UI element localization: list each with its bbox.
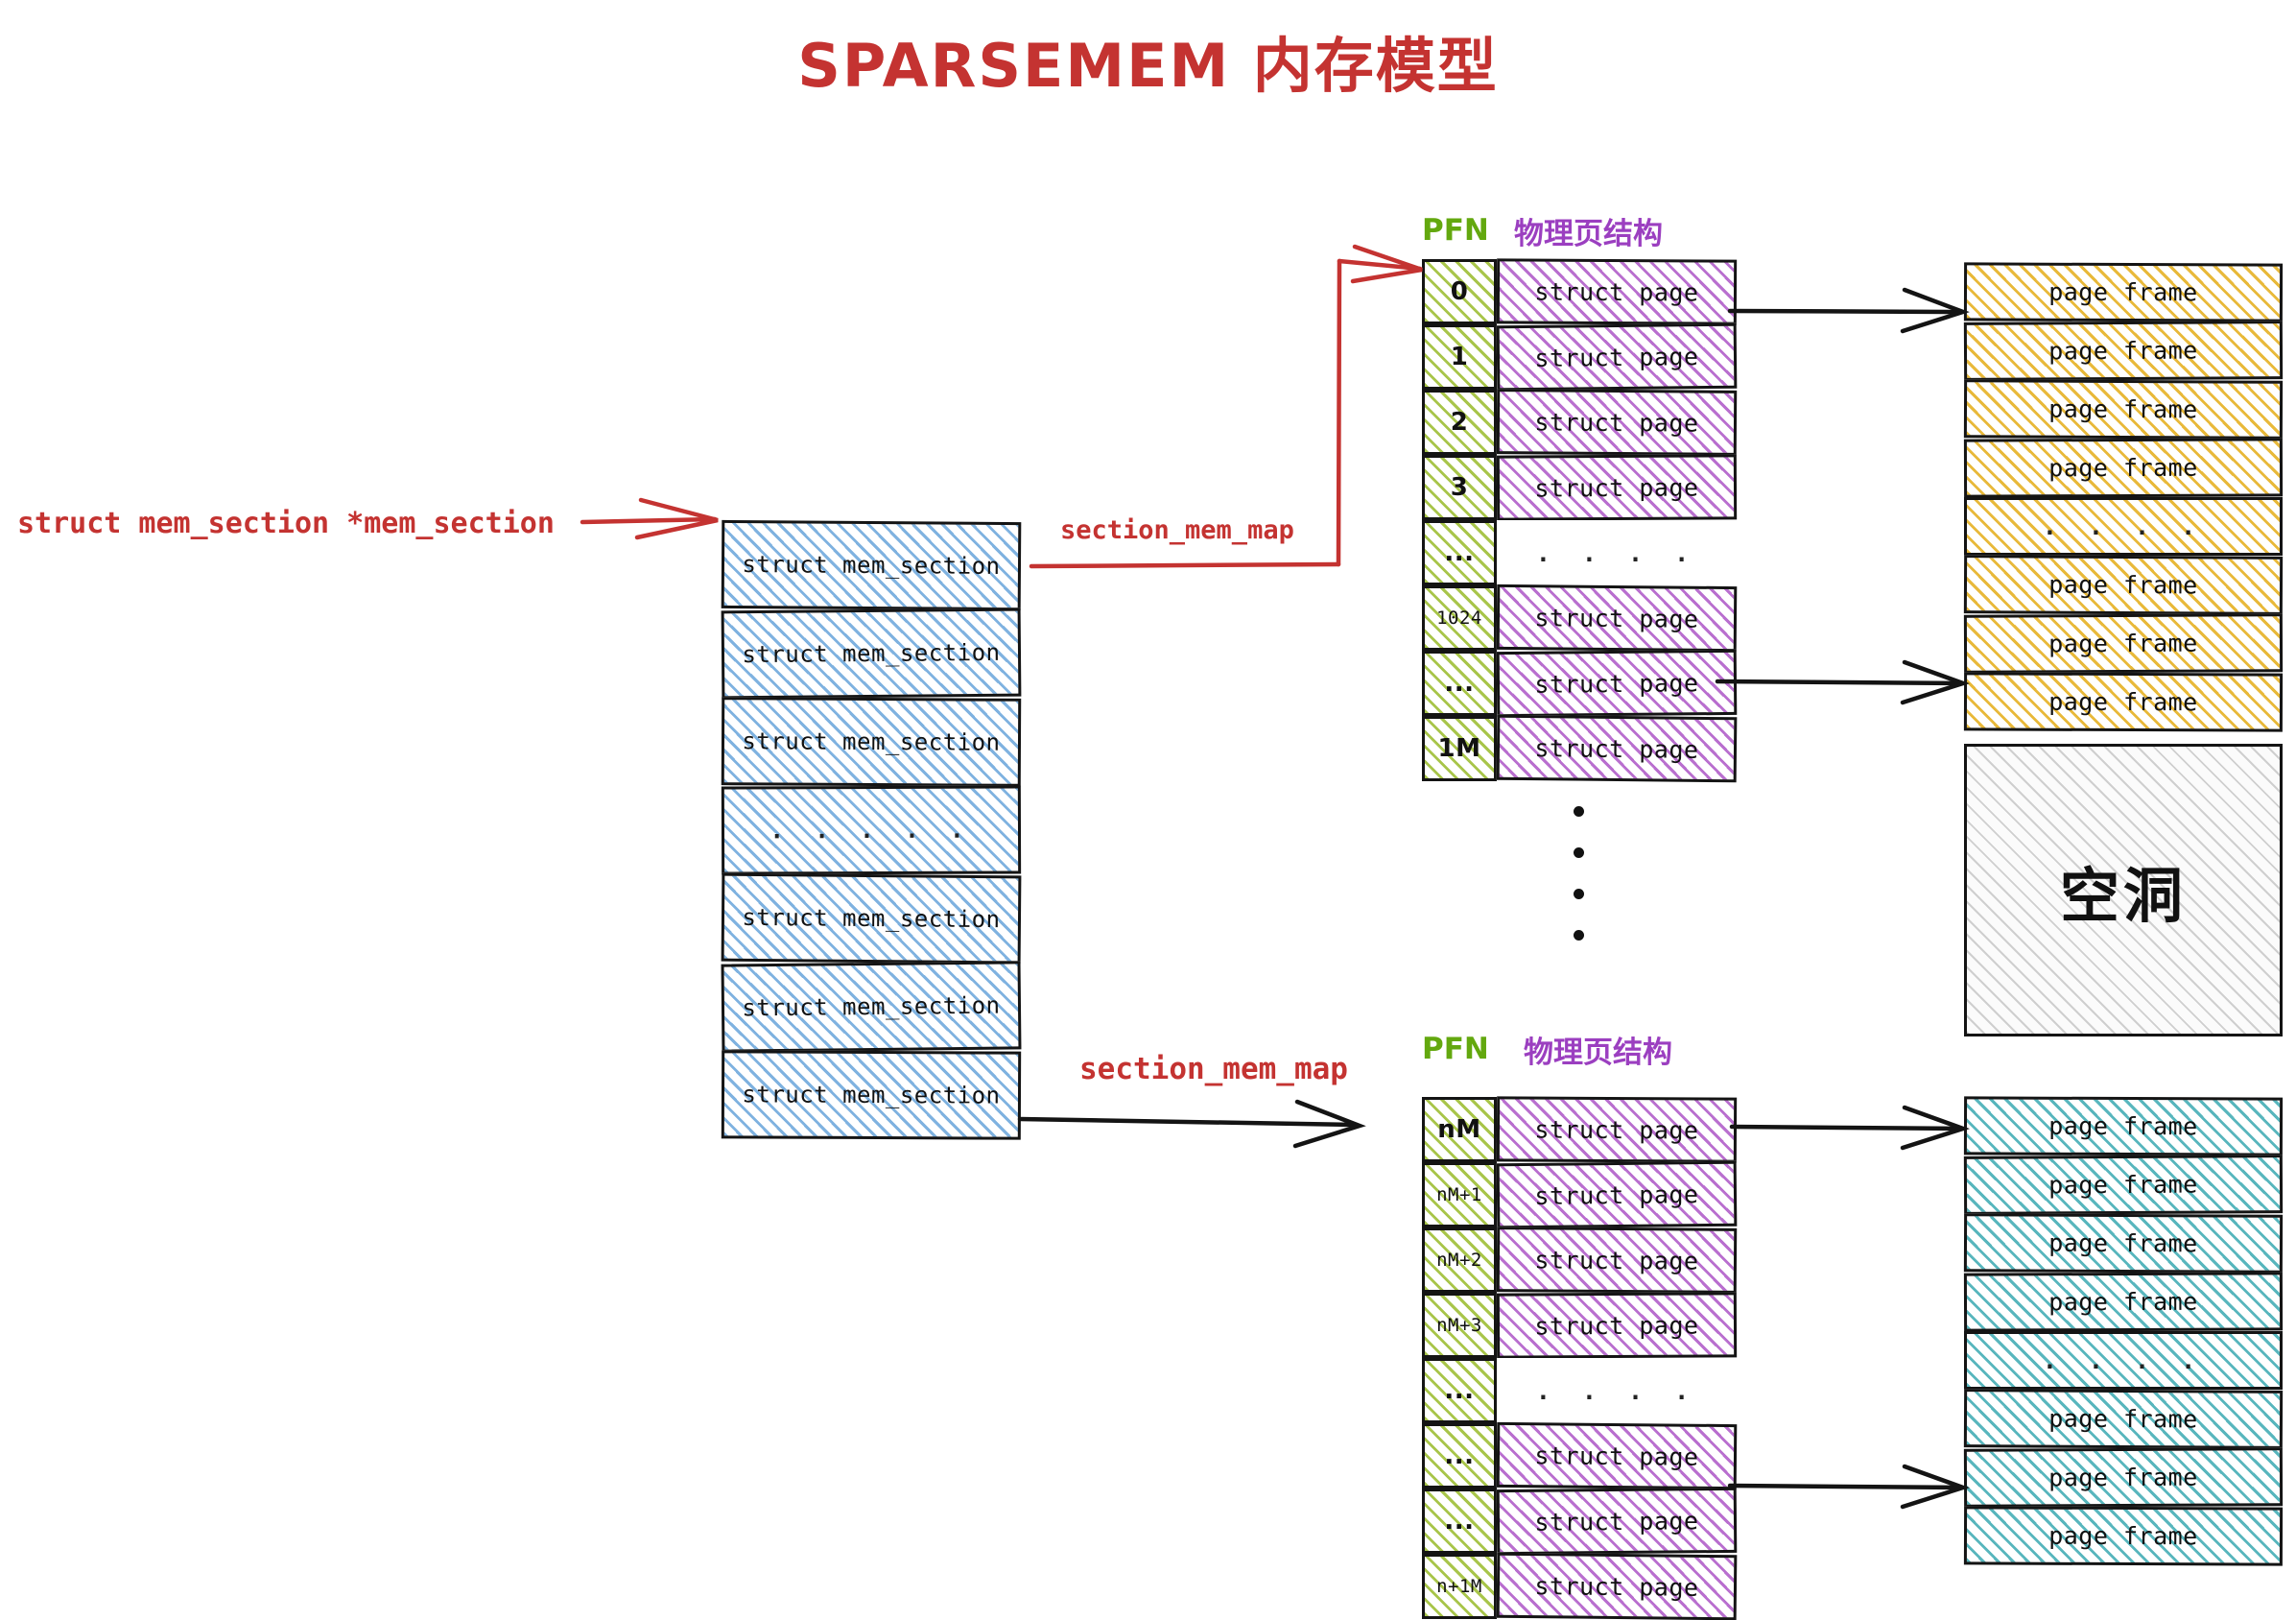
struct-page-label: struct page — [1534, 1507, 1698, 1536]
struct-page-label: . . . . — [1536, 539, 1697, 567]
page-frame-block: page frame — [1964, 1447, 2283, 1507]
pfn-cell: n+1M — [1422, 1554, 1497, 1619]
mem-section-label: struct mem_section — [742, 1081, 1000, 1108]
page-frame-block: page frame — [1964, 1389, 2283, 1449]
struct-page-cell: struct page — [1497, 323, 1738, 392]
struct-page-label: struct page — [1534, 1572, 1698, 1602]
page-frame-label: page frame — [2048, 571, 2198, 600]
struct-page-label: struct page — [1534, 669, 1698, 698]
struct-page-cell: struct page — [1497, 1292, 1737, 1358]
page-frame-label: . . . . — [2043, 512, 2204, 540]
page-frame-block: page frame — [1964, 379, 2283, 439]
struct-page-label: struct page — [1534, 343, 1698, 372]
struct-page-label: struct page — [1534, 1246, 1698, 1275]
page-frame-block: page frame — [1964, 1155, 2283, 1215]
mem-section-label: struct mem_section — [742, 551, 1000, 580]
page-frame-block: page frame — [1964, 321, 2283, 381]
section-mem-map-connector-bottom — [1020, 1102, 1360, 1146]
pfn-cell: 3 — [1422, 455, 1497, 520]
struct-page-cell: struct page — [1497, 1096, 1737, 1162]
struct-page-label: struct page — [1534, 473, 1698, 502]
pfn-cell: ... — [1422, 520, 1497, 585]
pointer-arrow-red — [582, 500, 718, 537]
memory-hole-label: 空洞 — [2060, 847, 2187, 934]
page-structure-header-bottom: 物理页结构 — [1524, 1028, 1672, 1071]
page-structure-header-top: 物理页结构 — [1514, 209, 1663, 252]
pfn-value: 1024 — [1436, 607, 1482, 629]
page-frame-block: page frame — [1964, 1213, 2283, 1273]
struct-page-cell: struct page — [1497, 1422, 1738, 1489]
page-frame-label: page frame — [2048, 1171, 2198, 1200]
mem-section-label: struct mem_section — [742, 727, 1000, 755]
pfn-value: nM+3 — [1436, 1315, 1482, 1336]
struct-page-label: struct page — [1534, 604, 1698, 632]
mem-section-block: struct mem_section — [722, 520, 1022, 610]
pfn-value: 1 — [1451, 343, 1469, 371]
struct-page-cell: struct page — [1497, 1227, 1737, 1294]
pfn-value: 3 — [1451, 473, 1469, 502]
mem-section-block: struct mem_section — [722, 1050, 1021, 1139]
struct-page-cell: struct page — [1497, 715, 1738, 783]
mem-section-pointer-label: struct mem_section *mem_section — [17, 507, 555, 540]
pfn-cell: 1024 — [1422, 585, 1497, 651]
page-frame-label: page frame — [2048, 337, 2198, 366]
struct-page-cell: struct page — [1497, 389, 1737, 456]
mem-section-label: struct mem_section — [742, 992, 1000, 1022]
page-frame-block: page frame — [1964, 1506, 2283, 1565]
pfn-cell: 2 — [1422, 390, 1497, 455]
struct-page-label: struct page — [1534, 1115, 1698, 1144]
pfn-value: nM — [1437, 1115, 1480, 1144]
struct-page-cell: struct page — [1497, 258, 1737, 324]
struct-page-cell: struct page — [1497, 650, 1738, 717]
page-frame-block: page frame — [1964, 613, 2283, 673]
pfn-value: n+1M — [1436, 1576, 1482, 1597]
connector-overlay — [0, 0, 2296, 1585]
mem-section-block: struct mem_section — [722, 697, 1021, 787]
page-frame-label: page frame — [2048, 1229, 2198, 1258]
struct-page-label: struct page — [1534, 1180, 1698, 1210]
struct-page-ellipsis: . . . . — [1497, 1358, 1737, 1423]
page-frame-block: page frame — [1964, 555, 2283, 615]
pfn-value: 1M — [1438, 734, 1481, 763]
pfn-value: ... — [1444, 1441, 1474, 1470]
mem-section-label: struct mem_section — [742, 639, 1000, 668]
page-frame-label: page frame — [2048, 278, 2198, 307]
pfn-value: ... — [1444, 669, 1474, 698]
page-frame-label: . . . . — [2043, 1346, 2204, 1374]
struct-page-label: struct page — [1534, 408, 1698, 437]
pfn-cell: 0 — [1422, 259, 1497, 324]
page-frame-label: page frame — [2048, 1112, 2198, 1141]
pfn-cell: ... — [1422, 1358, 1497, 1423]
struct-page-label: struct page — [1534, 734, 1698, 764]
struct-page-label: struct page — [1534, 277, 1698, 306]
page-frame-ellipsis: . . . . — [1964, 497, 2283, 556]
pfn-cell: nM+1 — [1422, 1162, 1497, 1227]
pfn-value: nM+1 — [1436, 1184, 1482, 1205]
pfn-value: ... — [1444, 538, 1474, 567]
page-to-frame-arrow-bottom-1 — [1732, 1108, 1963, 1148]
page-title: SPARSEMEM 内存模型 — [0, 17, 2296, 104]
pfn-cell: 1 — [1422, 324, 1497, 390]
pfn-cell: ... — [1422, 651, 1497, 716]
pfn-cell: nM+2 — [1422, 1227, 1497, 1293]
page-frame-block: page frame — [1964, 438, 2283, 497]
pfn-value: 0 — [1451, 277, 1469, 306]
page-frame-label: page frame — [2048, 630, 2198, 658]
struct-page-cell: struct page — [1497, 1553, 1738, 1620]
pfn-value: nM+2 — [1436, 1250, 1482, 1271]
mem-section-label: struct mem_section — [742, 904, 1000, 933]
page-frame-block: page frame — [1964, 1272, 2283, 1331]
vertical-ellipsis — [1574, 806, 1584, 941]
mem-section-block: struct mem_section — [722, 873, 1022, 965]
section-mem-map-label-top: section_mem_map — [1060, 515, 1294, 545]
struct-page-cell: struct page — [1497, 584, 1738, 652]
pfn-cell: nM — [1422, 1097, 1497, 1162]
pfn-value: ... — [1444, 1507, 1474, 1536]
section-mem-map-label-bottom: section_mem_map — [1079, 1052, 1348, 1086]
mem-section-block: . . . . . — [722, 785, 1021, 874]
struct-page-cell: struct page — [1497, 1161, 1738, 1229]
page-frame-label: page frame — [2048, 395, 2198, 424]
pfn-header-bottom: PFN — [1422, 1032, 1489, 1066]
struct-page-ellipsis: . . . . — [1497, 520, 1737, 585]
pfn-header-top: PFN — [1422, 213, 1489, 248]
page-frame-block: page frame — [1964, 672, 2283, 731]
page-to-frame-arrow-bottom-2 — [1730, 1466, 1963, 1507]
struct-page-cell: struct page — [1497, 454, 1737, 520]
page-frame-label: page frame — [2048, 688, 2198, 717]
page-frame-label: page frame — [2048, 1522, 2198, 1551]
page-to-frame-arrow-top-2 — [1717, 662, 1963, 703]
page-to-frame-arrow-top-1 — [1730, 290, 1963, 331]
pfn-value: 2 — [1451, 408, 1469, 437]
mem-section-label: . . . . . — [769, 817, 972, 845]
memory-hole-block: 空洞 — [1964, 744, 2283, 1036]
page-frame-label: page frame — [2048, 1464, 2198, 1492]
struct-page-label: struct page — [1534, 1441, 1698, 1470]
struct-page-label: struct page — [1534, 1311, 1698, 1340]
page-frame-label: page frame — [2048, 1405, 2198, 1434]
page-frame-label: page frame — [2048, 454, 2198, 483]
mem-section-block: struct mem_section — [722, 961, 1022, 1052]
page-frame-ellipsis: . . . . — [1964, 1331, 2283, 1390]
page-frame-block: page frame — [1964, 262, 2283, 322]
page-frame-label: page frame — [2048, 1288, 2198, 1317]
pfn-cell: ... — [1422, 1489, 1497, 1554]
pfn-value: ... — [1444, 1376, 1474, 1405]
pfn-cell: 1M — [1422, 716, 1497, 781]
struct-page-label: . . . . — [1536, 1377, 1697, 1405]
struct-page-cell: struct page — [1497, 1488, 1738, 1555]
pfn-cell: nM+3 — [1422, 1293, 1497, 1358]
pfn-cell: ... — [1422, 1423, 1497, 1489]
mem-section-block: struct mem_section — [722, 608, 1022, 700]
page-frame-block: page frame — [1964, 1096, 2283, 1155]
